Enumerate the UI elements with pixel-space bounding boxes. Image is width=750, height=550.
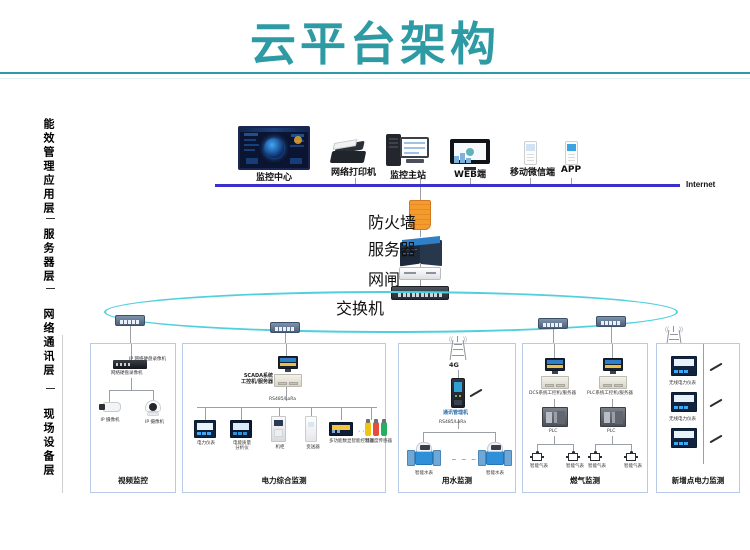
switch-icon [115, 315, 145, 326]
plc-system-monitor-icon [603, 358, 623, 374]
dome-camera-icon [145, 400, 161, 416]
node-gas-meter-a1[interactable]: 智能气表 [530, 451, 545, 469]
panel4-a-drop [554, 436, 555, 444]
video-monitoring-panel: IP 网络硬盘录像机 网络硬盘录像机 IP 摄像机 IP 摄像机 视频监控 [90, 343, 176, 493]
node-wireless-meter-2[interactable] [671, 392, 697, 412]
layer-divider-3 [46, 388, 55, 389]
panel-label: 用水监测 [399, 475, 515, 486]
edge-switch-4[interactable] [596, 316, 626, 327]
node-scada-monitor[interactable] [278, 356, 298, 372]
panel2-bus-label: RS485/LoRa [269, 397, 296, 402]
node-power-quality-analyzer[interactable]: 电能质量分析仪 [230, 420, 254, 452]
wireless-power-meter-icon [671, 428, 697, 448]
panel4-b-link [612, 399, 613, 407]
smart-gas-meter-icon [588, 451, 602, 462]
panel1-drop [131, 378, 132, 390]
panel3-branch-b [495, 432, 496, 442]
node-transducer[interactable]: 变送器 [305, 416, 321, 450]
title-divider [0, 72, 750, 74]
node-plc-b[interactable] [600, 407, 626, 427]
nvr-label-top: IP 网络硬盘录像机 [129, 357, 166, 362]
node-communication-manager[interactable] [451, 378, 465, 408]
layer-label-field-device: 现场设备层 [38, 408, 54, 478]
panel2-bus [197, 407, 377, 408]
switch-icon [538, 318, 568, 329]
title-divider-secondary [0, 78, 750, 79]
panel-label: 燃气监测 [523, 475, 647, 486]
device-label: 温湿度传感器 [365, 439, 387, 444]
power-integrated-monitoring-panel: SCADA系统工控机/服务器 RS485/LoRa 电力仪表 电能质量分析仪 机… [182, 343, 386, 493]
dcs-industrial-pc-icon [541, 376, 569, 389]
plc-label: PLC [549, 429, 557, 434]
monitoring-center-screen-icon [238, 126, 310, 170]
panel1-bus [109, 390, 153, 391]
smart-gas-meter-icon [624, 451, 638, 462]
node-app[interactable]: APP [554, 141, 588, 175]
node-label: 移动微信端 [510, 165, 550, 178]
panel4-trunk-b [612, 344, 613, 358]
dcs-monitor-icon [545, 358, 565, 374]
device-label: 无线电力仪表 [669, 417, 696, 422]
power-meter-icon [194, 420, 216, 438]
web-client-monitor-icon [450, 139, 490, 167]
connector-firewall-up [420, 187, 421, 200]
layer-divider-1 [46, 218, 55, 219]
node-label: APP [554, 165, 588, 175]
node-mobile-wechat[interactable]: 移动微信端 [510, 141, 550, 178]
node-web-client[interactable]: WEB端 [450, 139, 490, 180]
plc-label: PLC [607, 429, 615, 434]
server-label: 服务器 [368, 236, 416, 260]
scada-industrial-pc-icon [274, 374, 302, 387]
node-gas-meter-b1[interactable]: 智能气表 [588, 451, 603, 469]
node-gas-meter-a2[interactable]: 智能气表 [566, 451, 581, 469]
node-scada-host[interactable] [274, 374, 302, 387]
connector-edge-switch-1 [130, 326, 131, 343]
device-label: 无线电力仪表 [669, 381, 696, 386]
antenna-stick-icon [709, 363, 722, 372]
page-title: 云平台架构 [0, 8, 750, 74]
smart-water-meter-icon [407, 442, 441, 468]
temp-humidity-sensor-icon [365, 422, 387, 436]
panel4-b-br1 [595, 444, 596, 451]
device-label: 智能气表 [588, 464, 603, 469]
panel4-b-br2 [631, 444, 632, 451]
panel4-a-br2 [573, 444, 574, 451]
node-label: 网络打印机 [331, 165, 376, 178]
panel1-branch-a [109, 390, 110, 402]
node-temp-humidity-sensor[interactable]: 温湿度传感器 [365, 422, 387, 444]
node-water-meter-1[interactable]: 智能水表 [407, 442, 441, 476]
scada-monitor-icon [278, 356, 298, 372]
node-gas-meter-b2[interactable]: 智能气表 [624, 451, 639, 469]
transducer-icon [305, 416, 317, 442]
panel4-b-bus [595, 444, 631, 445]
gas-monitoring-panel: DCS系统工控机/服务器 PLC 智能气表 智能气表 PLC系统工控机/服务器 [522, 343, 648, 493]
antenna-stick-icon [709, 435, 722, 444]
antenna-tower-icon: (()) [448, 336, 468, 360]
layer-label-network: 网络通讯层 [38, 308, 54, 378]
panel4-a-link [554, 399, 555, 407]
antenna-stick-icon [469, 389, 482, 398]
power-quality-analyzer-icon [230, 420, 252, 438]
edge-switch-3[interactable] [538, 318, 568, 329]
panel-label: 新增点电力监测 [657, 475, 739, 486]
node-plc-a[interactable] [542, 407, 568, 427]
switch-icon [596, 316, 626, 327]
antenna-stick-icon [709, 399, 722, 408]
network-ring [104, 291, 678, 333]
plc-icon [542, 407, 568, 427]
controller-icon [329, 422, 353, 436]
device-label: 智能气表 [624, 464, 639, 469]
node-power-meter[interactable]: 电力仪表 [194, 420, 218, 446]
device-label: 多功能数显智能控制器 [329, 439, 355, 444]
device-label: 变送器 [305, 445, 321, 450]
panel4-b-drop [612, 436, 613, 444]
water-monitoring-panel: (()) 4G 通讯管理机 RS485/LoRa 智能水表 – – – [398, 343, 516, 493]
node-plcsys-monitor[interactable] [603, 358, 623, 374]
smart-gas-meter-icon [530, 451, 544, 462]
network-printer-icon [331, 141, 365, 165]
node-monitoring-center[interactable]: 监控中心 [238, 126, 310, 183]
node-monitoring-workstation[interactable]: 监控主站 [386, 134, 430, 181]
panel3-bus [423, 432, 495, 433]
panel4-a-br1 [537, 444, 538, 451]
panel3-bus-label: RS485/LoRa [439, 420, 466, 425]
communication-manager-icon [451, 378, 465, 408]
panel2-branch-5 [341, 407, 342, 420]
node-cabinet[interactable]: 机柜 [271, 416, 289, 450]
dcs-host-label: DCS系统工控机/服务器 [529, 391, 576, 396]
node-label: 监控主站 [386, 168, 430, 181]
panel2-branch-2 [241, 407, 242, 420]
device-label: 电能质量分析仪 [230, 441, 254, 452]
wireless-power-meter-icon [671, 392, 697, 412]
cabinet-icon [271, 416, 286, 442]
layer-label-application: 能效管理应用层 [38, 118, 54, 216]
internet-label: Internet [686, 180, 715, 189]
connector-edge-switch-2 [285, 333, 286, 343]
node-controller[interactable]: 多功能数显智能控制器 [329, 422, 355, 444]
camera-label: IP 摄像机 [99, 418, 121, 423]
node-dome-camera[interactable]: IP 摄像机 [145, 400, 164, 425]
edge-switch-1[interactable] [115, 315, 145, 326]
firewall-label: 防火墙 [368, 209, 416, 233]
plcsys-host-label: PLC系统工控机/服务器 [587, 391, 633, 396]
new-power-monitoring-panel: 无线电力仪表 无线电力仪表 新增点电力监测 [656, 343, 740, 493]
network-label-4g: 4G [449, 362, 459, 370]
layer-label-server: 服务器层 [38, 228, 54, 284]
wireless-power-meter-icon [671, 356, 697, 376]
device-label: 智能气表 [530, 464, 545, 469]
connector-edge-switch-3 [553, 329, 554, 343]
panel3-tower-link [458, 370, 459, 378]
panel-label: 电力综合监测 [183, 475, 385, 486]
node-4g-tower[interactable]: (()) [448, 336, 468, 360]
diagram-canvas: 云平台架构 能效管理应用层 服务器层 网络通讯层 现场设备层 监控中心 网络打印… [0, 0, 750, 550]
smart-water-meter-icon [478, 442, 512, 468]
nvr-label: 网络硬盘录像机 [111, 371, 143, 376]
plc-system-industrial-pc-icon [599, 376, 627, 389]
panel2-trunk [286, 344, 287, 356]
node-plcsys-host[interactable] [599, 376, 627, 389]
monitoring-workstation-icon [386, 134, 430, 168]
network-gatekeeper-icon [399, 267, 441, 280]
node-gatekeeper[interactable] [399, 267, 441, 280]
node-wireless-meter-3[interactable] [671, 428, 697, 448]
node-dcs-monitor[interactable] [545, 358, 565, 374]
connector-edge-switch-4 [611, 327, 612, 343]
device-label: 电力仪表 [194, 441, 218, 446]
app-phone-icon [565, 141, 578, 165]
panel4-a-bus [537, 444, 573, 445]
device-label: 智能气表 [566, 464, 581, 469]
bullet-camera-icon [99, 402, 121, 414]
connector-firewall-server [420, 230, 421, 237]
panel3-branch-a [423, 432, 424, 442]
field-layer-rule [62, 335, 63, 493]
panel2-branch-6 [371, 407, 372, 420]
edge-switch-2[interactable] [270, 322, 300, 333]
internet-backbone-line [215, 184, 680, 187]
panel5-riser [703, 344, 704, 464]
mobile-wechat-phone-icon [524, 141, 537, 165]
node-bullet-camera[interactable]: IP 摄像机 [99, 402, 121, 423]
layer-divider-2 [46, 288, 55, 289]
device-label: 机柜 [271, 445, 289, 450]
node-water-meter-2[interactable]: 智能水表 [478, 442, 512, 476]
smart-gas-meter-icon [566, 451, 580, 462]
plc-icon [600, 407, 626, 427]
node-wireless-meter-1[interactable] [671, 356, 697, 376]
panel3-ellipsis: – – – [452, 456, 478, 463]
node-network-printer[interactable]: 网络打印机 [331, 141, 376, 178]
panel4-trunk-a [554, 344, 555, 358]
panel-label: 视频监控 [91, 475, 175, 486]
scada-host-label: SCADA系统工控机/服务器 [241, 373, 273, 386]
panel2-branch-1 [205, 407, 206, 420]
camera-label: IP 摄像机 [145, 420, 164, 425]
node-label: 监控中心 [238, 170, 310, 183]
node-dcs-host[interactable] [541, 376, 569, 389]
switch-icon [270, 322, 300, 333]
communication-manager-label: 通讯管理机 [443, 410, 468, 416]
